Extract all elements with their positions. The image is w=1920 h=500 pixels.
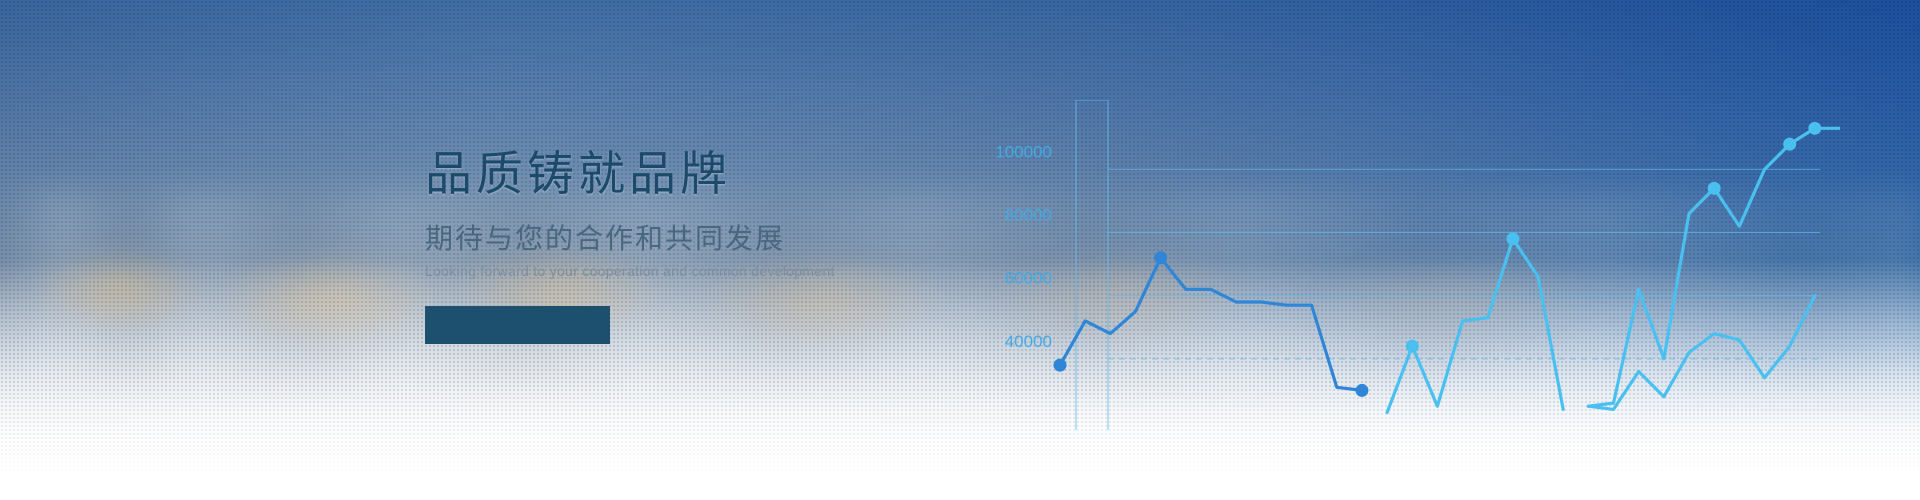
chart-data-point [1808,122,1821,135]
chart-y-tick-label: 40000 [1005,332,1052,351]
chart-series-line [1588,128,1840,406]
banner-subheadline: 期待与您的合作和共同发展 [425,225,945,253]
chart-series-line [1588,296,1814,410]
chart-svg: 100000800006000040000 [940,100,1840,440]
banner-english-tagline: Looking forward to your cooperation and … [425,263,945,280]
chart-axis-frame [1076,100,1108,430]
banner-headline: 品质铸就品牌 [425,150,945,197]
chart-data-point [1355,384,1368,397]
banner-cta-button[interactable] [425,306,610,344]
banner-copy-block: 品质铸就品牌 期待与您的合作和共同发展 Looking forward to y… [425,150,945,344]
decorative-line-chart: 100000800006000040000 [940,100,1840,440]
chart-data-point [1154,251,1167,264]
chart-data-point [1506,232,1519,245]
chart-data-point [1708,182,1721,195]
chart-data-point [1783,138,1796,151]
chart-data-point [1054,359,1067,372]
chart-series-line [1387,239,1563,413]
chart-y-tick-label: 80000 [1005,206,1052,225]
chart-y-tick-label: 60000 [1005,269,1052,288]
chart-series-line [1060,258,1362,391]
hero-banner: 品质铸就品牌 期待与您的合作和共同发展 Looking forward to y… [0,0,1920,500]
chart-data-point [1406,340,1419,353]
chart-y-tick-label: 100000 [995,142,1052,161]
